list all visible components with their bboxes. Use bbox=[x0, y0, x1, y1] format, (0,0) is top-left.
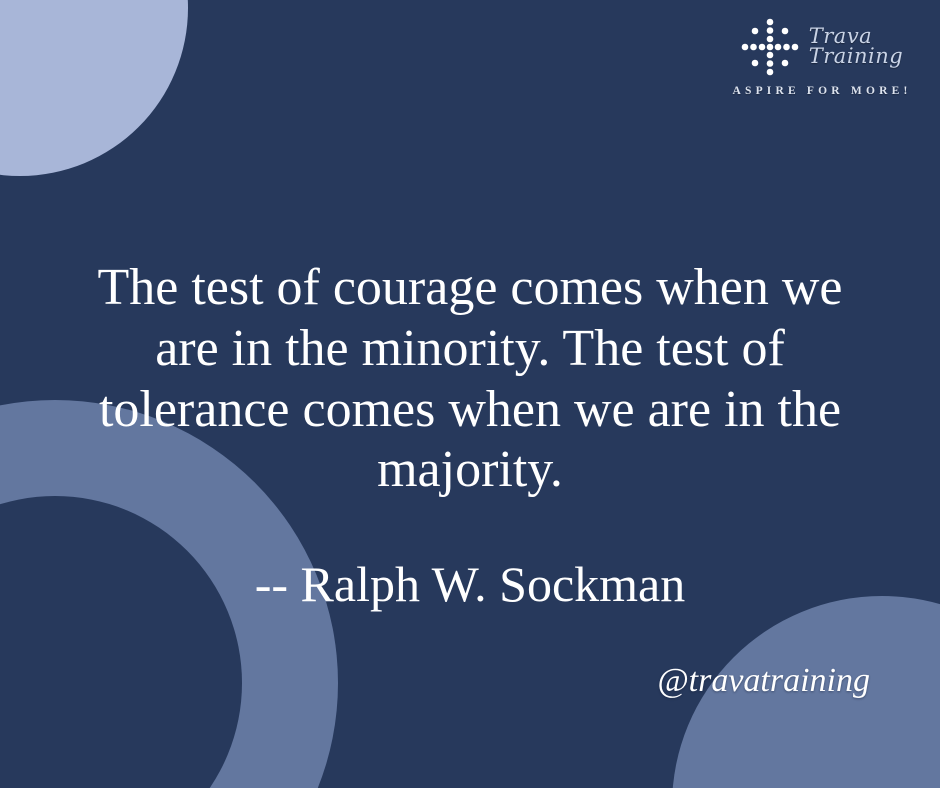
logo-tagline: ASPIRE FOR MORE! bbox=[732, 85, 911, 97]
quote-card: Trava Training ASPIRE FOR MORE! The test… bbox=[0, 0, 940, 788]
quote-block: The test of courage comes when we are in… bbox=[0, 258, 940, 612]
dotted-cross-icon bbox=[741, 18, 799, 76]
social-handle: @travatraining bbox=[657, 662, 870, 700]
quote-text: The test of courage comes when we are in… bbox=[0, 258, 940, 501]
logo-wordmark: Trava Training bbox=[809, 27, 904, 67]
top-left-circle-decoration bbox=[0, 0, 188, 176]
brand-logo: Trava Training ASPIRE FOR MORE! bbox=[722, 18, 922, 97]
logo-row: Trava Training bbox=[741, 18, 904, 76]
logo-wordmark-line2: Training bbox=[809, 47, 904, 67]
quote-attribution: -- Ralph W. Sockman bbox=[0, 501, 940, 612]
